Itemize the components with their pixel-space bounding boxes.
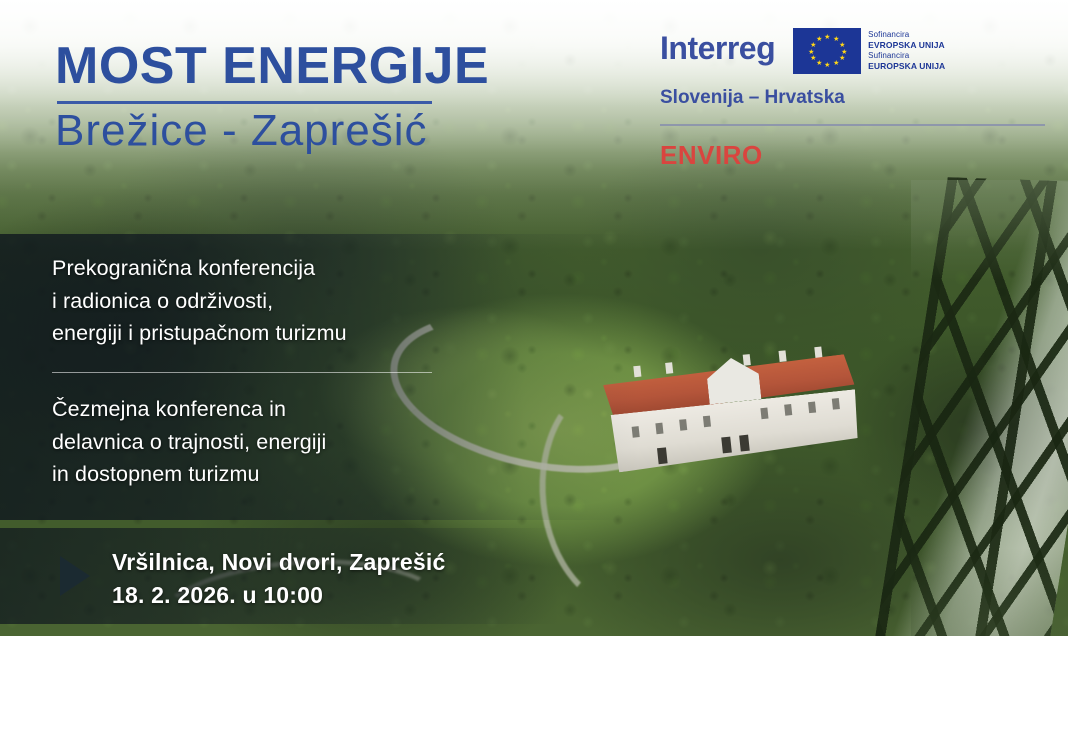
page-subtitle: Brežice - Zaprešić (55, 107, 575, 155)
description-divider (52, 372, 432, 373)
bridge-truss-fade (911, 180, 1068, 636)
eu-text-hr-value: EUROPSKA UNIJA (868, 61, 945, 72)
description-hr-line3: energiji i pristupačnom turizmu (52, 317, 522, 350)
description-sl-line2: delavnica o trajnosti, energiji (52, 426, 522, 459)
title-block: MOST ENERGIJE Brežice - Zaprešić (55, 40, 575, 155)
interreg-logo-block: Interreg ★ ★ ★ ★ ★ ★ ★ ★ ★ ★ ★ ★ Sof (660, 28, 1050, 171)
triangle-marker-icon (60, 556, 90, 596)
manor-gable (705, 355, 761, 404)
eu-text-hr-label: Sufinancira (868, 51, 945, 61)
eu-flag-icon: ★ ★ ★ ★ ★ ★ ★ ★ ★ ★ ★ ★ (793, 28, 861, 74)
interreg-wordmark: Interreg (660, 28, 775, 64)
partner-logos-bar: OBČINA BREŽICE TURISTIČKA ZAJEDNICA ZA P… (0, 636, 1068, 752)
description-sl-line1: Čezmejna konferenca in (52, 393, 522, 426)
interreg-countries: Slovenija – Hrvatska (660, 87, 1050, 109)
programme-name: ENVIRO (660, 140, 1050, 171)
interreg-divider (660, 124, 1045, 126)
eu-funding-text: Sofinancira EVROPSKA UNIJA Sufinancira E… (868, 28, 945, 72)
description-sl-line3: in dostopnem turizmu (52, 458, 522, 491)
description-hr-line2: i radionica o održivosti, (52, 285, 522, 318)
description-hr-line1: Prekogranična konferencija (52, 252, 522, 285)
event-poster: MOST ENERGIJE Brežice - Zaprešić Interre… (0, 0, 1068, 752)
description-block: Prekogranična konferencija i radionica o… (52, 252, 522, 491)
page-title: MOST ENERGIJE (55, 40, 575, 92)
venue-block: Vršilnica, Novi dvori, Zaprešić 18. 2. 2… (60, 546, 445, 611)
title-divider (57, 101, 432, 104)
venue-date: 18. 2. 2026. u 10:00 (112, 579, 445, 612)
venue-place: Vršilnica, Novi dvori, Zaprešić (112, 546, 445, 579)
eu-text-sl-label: Sofinancira (868, 30, 945, 40)
eu-text-sl-value: EVROPSKA UNIJA (868, 40, 945, 51)
